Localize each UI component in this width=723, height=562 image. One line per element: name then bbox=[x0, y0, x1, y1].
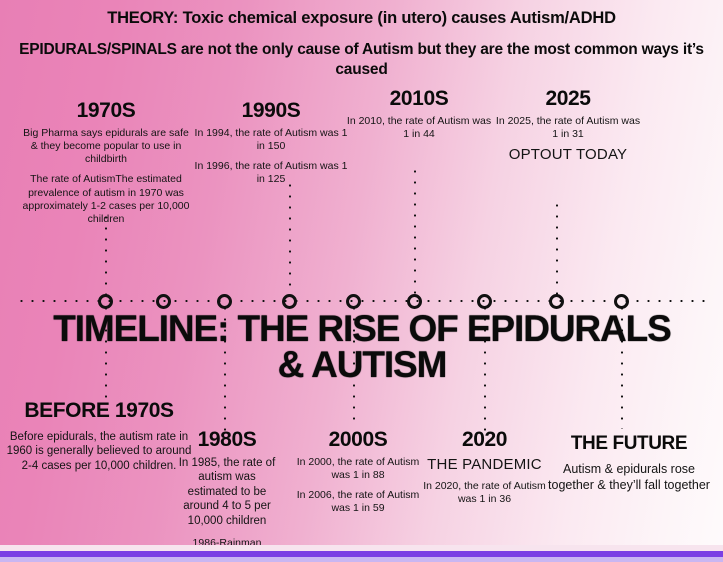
entry-year-label: 1990S bbox=[192, 100, 350, 122]
node-marker-3[interactable] bbox=[217, 294, 232, 309]
entry-paragraph: In 1996, the rate of Autism was 1 in 125 bbox=[192, 160, 350, 186]
entry-paragraph: In 2000, the rate of Autism was 1 in 88 bbox=[288, 456, 428, 482]
entry-subtitle: OPTOUT TODAY bbox=[492, 145, 644, 165]
epidurals-headline: EPIDURALS/SPINALS are not the only cause… bbox=[0, 27, 723, 79]
node-marker-9[interactable] bbox=[614, 294, 629, 309]
node-marker-7[interactable] bbox=[477, 294, 492, 309]
entry-year-label: 2020 bbox=[422, 429, 547, 451]
node-marker-4[interactable] bbox=[282, 294, 297, 309]
entry-2010s: 2010S In 2010, the rate of Autism was 1 … bbox=[344, 88, 494, 141]
entry-paragraph: Big Pharma says epidurals are safe & the… bbox=[22, 127, 190, 166]
infographic-canvas: THEORY: Toxic chemical exposure (in uter… bbox=[0, 0, 723, 562]
connector-2010s bbox=[413, 166, 417, 300]
entry-paragraph: In 2025, the rate of Autism was 1 in 31 bbox=[492, 115, 644, 141]
theory-headline: THEORY: Toxic chemical exposure (in uter… bbox=[0, 0, 723, 27]
entry-paragraph: Autism & epidurals rose together & they’… bbox=[540, 462, 718, 493]
entry-year-label: 2010S bbox=[344, 88, 494, 110]
entry-subtitle: THE PANDEMIC bbox=[422, 455, 547, 475]
entry-the-future: THE FUTURE Autism & epidurals rose toget… bbox=[540, 434, 718, 493]
entry-year-label: 2025 bbox=[492, 88, 644, 110]
entry-1980s: 1980S In 1985, the rate of autism was es… bbox=[172, 429, 282, 549]
entry-2000s: 2000S In 2000, the rate of Autism was 1 … bbox=[288, 429, 428, 516]
node-marker-1[interactable] bbox=[98, 294, 113, 309]
entry-paragraph: In 1985, the rate of autism was estimate… bbox=[172, 456, 282, 528]
node-marker-5[interactable] bbox=[346, 294, 361, 309]
bottom-bar-lavender bbox=[0, 557, 723, 562]
entry-year-label: 1980S bbox=[172, 429, 282, 451]
page-title: TIMELINE: THE RISE OF EPIDURALS & AUTISM bbox=[42, 311, 682, 384]
entry-year-label: 1970S bbox=[22, 100, 190, 122]
entry-paragraph: In 1994, the rate of Autism was 1 in 150 bbox=[192, 127, 350, 153]
headline-block: THEORY: Toxic chemical exposure (in uter… bbox=[0, 0, 723, 79]
entry-year-label: BEFORE 1970S bbox=[4, 400, 194, 422]
timeline-axis bbox=[16, 299, 708, 303]
node-marker-8[interactable] bbox=[549, 294, 564, 309]
entry-2025: 2025 In 2025, the rate of Autism was 1 i… bbox=[492, 88, 644, 165]
connector-2025 bbox=[555, 200, 559, 300]
entry-1970s: 1970S Big Pharma says epidurals are safe… bbox=[22, 100, 190, 226]
entry-paragraph: In 2020, the rate of Autism was 1 in 36 bbox=[422, 480, 547, 506]
entry-paragraph: Before epidurals, the autism rate in 196… bbox=[4, 430, 194, 473]
entry-year-label: 2000S bbox=[288, 429, 428, 451]
node-marker-6[interactable] bbox=[407, 294, 422, 309]
node-marker-2[interactable] bbox=[156, 294, 171, 309]
entry-paragraph: In 2010, the rate of Autism was 1 in 44 bbox=[344, 115, 494, 141]
entry-year-label: THE FUTURE bbox=[540, 434, 718, 454]
entry-2020: 2020 THE PANDEMIC In 2020, the rate of A… bbox=[422, 429, 547, 506]
entry-1990s: 1990S In 1994, the rate of Autism was 1 … bbox=[192, 100, 350, 187]
entry-paragraph: The rate of AutismThe estimated prevalen… bbox=[22, 173, 190, 226]
entry-paragraph: In 2006, the rate of Autism was 1 in 59 bbox=[288, 489, 428, 515]
entry-before-1970s: BEFORE 1970S Before epidurals, the autis… bbox=[4, 400, 194, 473]
connector-1990s bbox=[288, 180, 292, 300]
